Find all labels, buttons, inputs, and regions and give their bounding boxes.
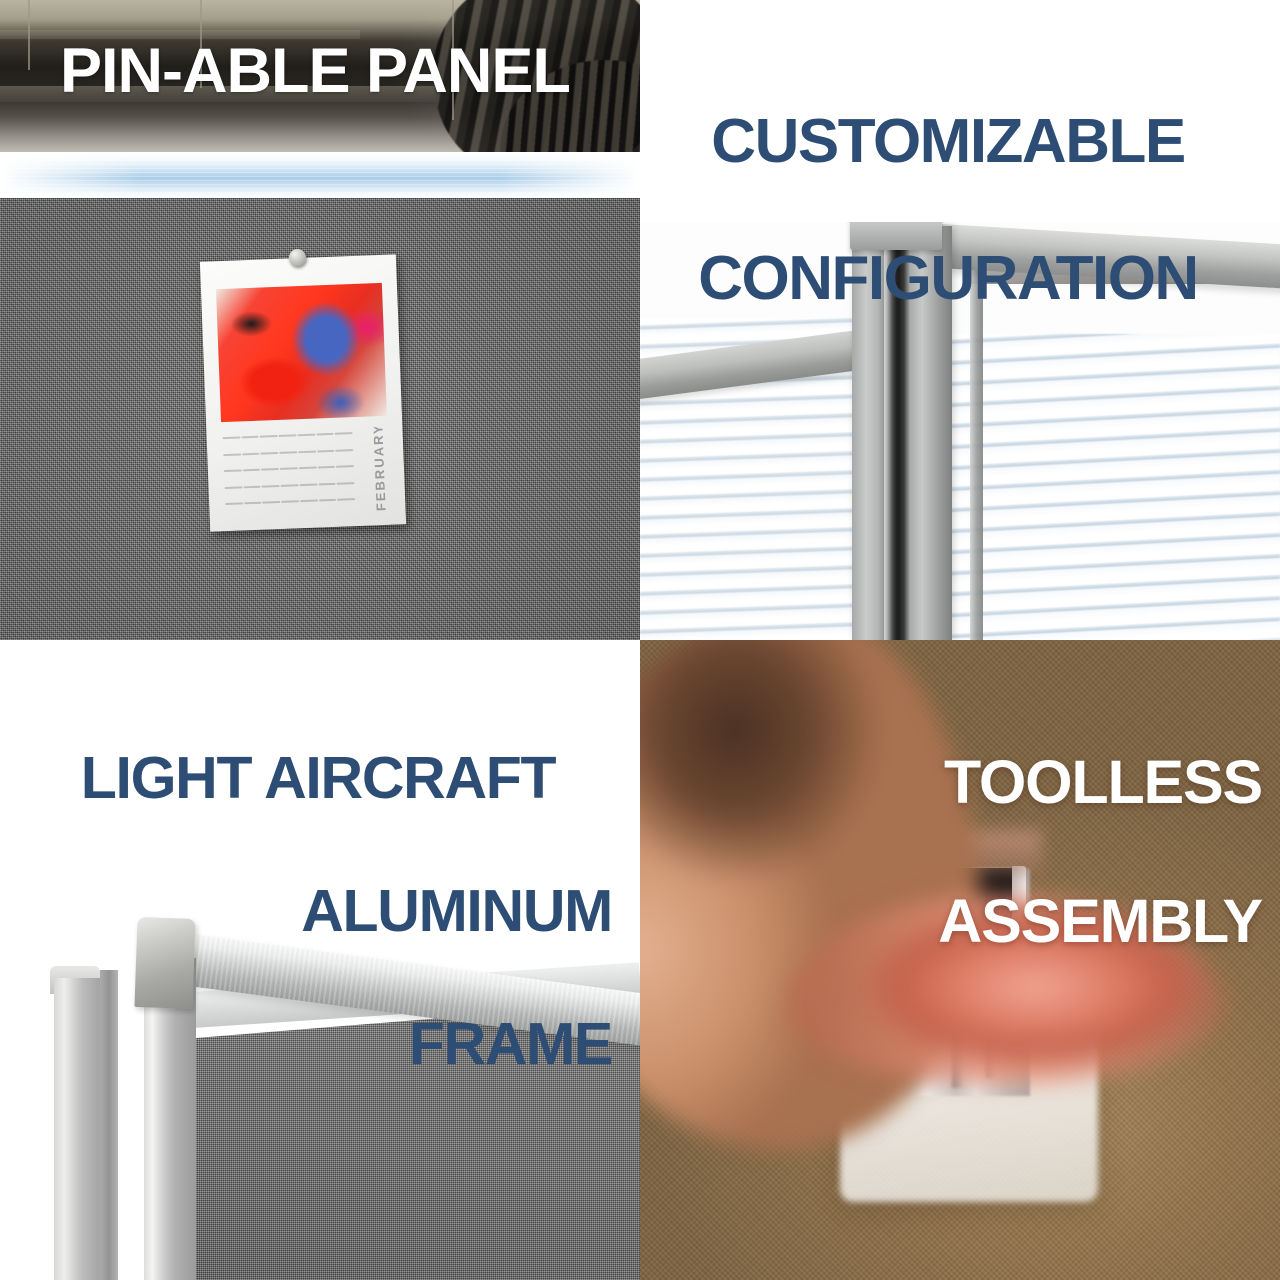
heading-line-2: CONFIGURATION (698, 244, 1197, 313)
push-pin-icon (289, 249, 306, 266)
panel-pin-able-panel: FEBRUARY PIN-ABLE PANEL (0, 0, 640, 640)
heading-line-2: ASSEMBLY (938, 887, 1262, 955)
calendar-month-label: FEBRUARY (370, 426, 399, 511)
glass-panel-side-frame (970, 270, 983, 640)
panel-toolless-assembly: TOOLLESS ASSEMBLY (640, 640, 1280, 1280)
heading-line-2: ALUMINUM (24, 878, 612, 945)
heading-pin-able-panel: PIN-ABLE PANEL (60, 38, 570, 105)
window-blinds-right (898, 334, 1280, 640)
heading-line-1: TOOLLESS (944, 748, 1262, 816)
calendar-artwork (216, 283, 387, 422)
calendar-date-grid (222, 428, 355, 515)
heading-line-1: CUSTOMIZABLE (711, 107, 1184, 176)
heading-customizable-configuration: CUSTOMIZABLE CONFIGURATION (640, 40, 1256, 313)
ceiling-hanger-rod (28, 0, 30, 70)
heading-line-1: LIGHT AIRCRAFT (24, 745, 612, 812)
heading-light-aircraft-aluminum-frame: LIGHT AIRCRAFT ALUMINUM FRAME (24, 678, 612, 1145)
panel-top-rail-fade (0, 152, 640, 202)
heading-toolless-assembly: TOOLLESS ASSEMBLY (640, 678, 1262, 956)
panel-customizable-configuration: CUSTOMIZABLE CONFIGURATION (640, 0, 1280, 640)
heading-line-3: FRAME (24, 1011, 612, 1078)
feature-collage: FEBRUARY PIN-ABLE PANEL CUSTOMIZABLE CON… (0, 0, 1280, 1280)
panel-light-aircraft-aluminum-frame: LIGHT AIRCRAFT ALUMINUM FRAME (0, 640, 640, 1280)
pinned-calendar: FEBRUARY (200, 254, 406, 531)
